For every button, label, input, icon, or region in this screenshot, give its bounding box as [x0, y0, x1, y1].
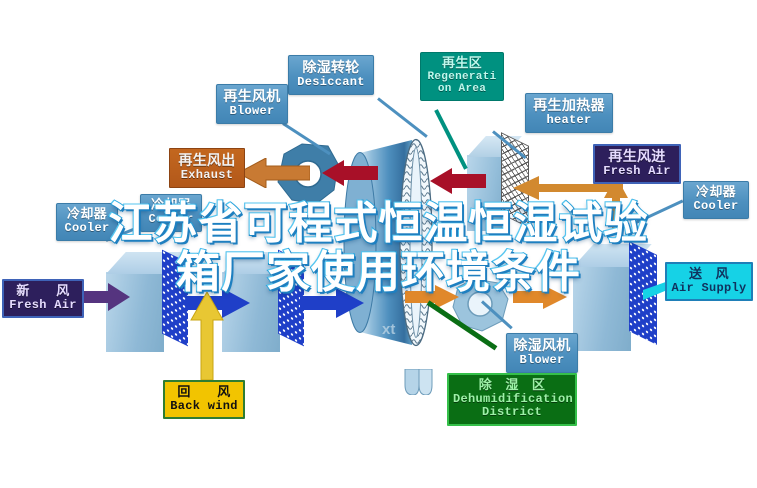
label-regen-heater-en: heater — [530, 114, 608, 127]
label-regen-heater[interactable]: 再生加热器 heater — [525, 93, 613, 133]
leader-desiccant — [377, 97, 428, 138]
label-back-wind[interactable]: 回 风 Back wind — [163, 380, 245, 419]
label-back-wind-cn: 回 风 — [169, 385, 239, 400]
label-cooler-left-1-en: Cooler — [61, 222, 113, 235]
label-fresh-air-in-cn: 新 风 — [8, 284, 78, 299]
label-air-supply-en: Air Supply — [671, 282, 747, 295]
label-cooler-right[interactable]: 冷却器 Cooler — [683, 181, 749, 219]
regen-intake-riser — [604, 176, 628, 239]
label-desiccant-en: Desiccant — [293, 76, 369, 89]
dry-air-arrow-1 — [405, 285, 459, 314]
label-fresh-air-in-en: Fresh Air — [8, 299, 78, 312]
label-cooler-right-en: Cooler — [688, 200, 744, 213]
label-cooler-right-cn: 冷却器 — [688, 185, 744, 200]
label-cooler-left-2[interactable]: 冷却器 Cooler — [140, 194, 202, 232]
label-dehum-district-en-l2: District — [453, 406, 571, 419]
label-exhaust-en: Exhaust — [174, 169, 240, 182]
label-regen-blower[interactable]: 再生风机 Blower — [216, 84, 288, 124]
label-dehum-district-en-l1: Dehumidification — [453, 393, 571, 406]
label-cooler-left-2-en: Cooler — [145, 213, 197, 226]
label-regen-area-cn: 再生区 — [424, 56, 500, 71]
regen-hot-arrow-1 — [322, 160, 378, 191]
label-regen-fresh-air[interactable]: 再生风进 Fresh Air — [593, 144, 681, 184]
label-back-wind-en: Back wind — [169, 400, 239, 413]
label-air-supply-cn: 送 风 — [671, 267, 747, 282]
label-dehum-blower-en: Blower — [511, 354, 573, 367]
label-regen-area[interactable]: 再生区 Regenerati on Area — [420, 52, 504, 101]
diagram-canvas: xt — [0, 0, 757, 488]
dry-air-arrow-2 — [513, 285, 567, 314]
cooler-coil-left-1 — [162, 250, 188, 347]
label-cooler-left-2-cn: 冷却器 — [145, 198, 197, 213]
label-regen-blower-cn: 再生风机 — [221, 89, 283, 105]
rotor-base-pad — [403, 369, 433, 395]
rotor-watermark: xt — [382, 321, 395, 338]
fresh-air-in-arrow — [82, 283, 130, 316]
label-desiccant-cn: 除湿转轮 — [293, 60, 369, 76]
label-dehum-blower-cn: 除湿风机 — [511, 338, 573, 354]
label-regen-area-en-l1: Regenerati — [424, 71, 500, 83]
label-regen-fresh-air-en: Fresh Air — [599, 165, 675, 178]
label-dehum-district-cn: 除 湿 区 — [453, 378, 571, 393]
label-regen-area-en-l2: on Area — [424, 83, 500, 95]
label-exhaust[interactable]: 再生风出 Exhaust — [169, 148, 245, 188]
label-fresh-air-in[interactable]: 新 风 Fresh Air — [2, 279, 84, 318]
label-regen-fresh-air-cn: 再生风进 — [599, 149, 675, 165]
exhaust-arrow — [238, 158, 310, 193]
label-regen-blower-en: Blower — [221, 105, 283, 118]
cooler-block-right — [573, 265, 631, 351]
regen-hot-arrow-2 — [430, 168, 486, 199]
label-regen-heater-cn: 再生加热器 — [530, 98, 608, 114]
label-exhaust-cn: 再生风出 — [174, 153, 240, 169]
label-dehum-district[interactable]: 除 湿 区 Dehumidification District — [447, 373, 577, 426]
label-cooler-left-1[interactable]: 冷却器 Cooler — [56, 203, 118, 241]
back-wind-arrow — [190, 292, 224, 385]
label-desiccant[interactable]: 除湿转轮 Desiccant — [288, 55, 374, 95]
leader-cooler-right — [631, 199, 683, 225]
label-cooler-left-1-cn: 冷却器 — [61, 207, 113, 222]
label-air-supply[interactable]: 送 风 Air Supply — [665, 262, 753, 301]
process-air-arrow-2 — [300, 288, 364, 323]
label-dehum-blower[interactable]: 除湿风机 Blower — [506, 333, 578, 373]
